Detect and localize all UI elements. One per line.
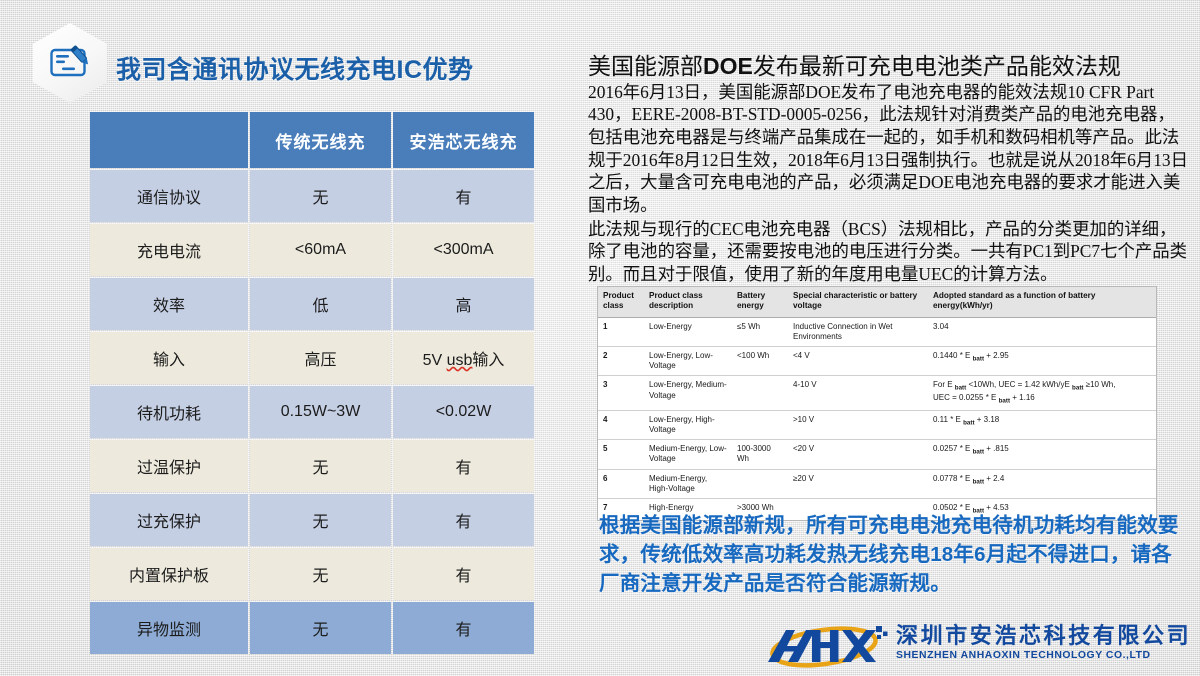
table-row: 充电电流 <60mA <300mA <box>90 224 534 276</box>
doe-cell-desc: Medium-Energy, High-Voltage <box>644 469 732 498</box>
cell-ahx: 高 <box>393 278 534 330</box>
doe-cell-energy <box>732 469 788 498</box>
doe-table-row: 1 Low-Energy ≤5 Wh Inductive Connection … <box>598 317 1156 346</box>
doe-cell-num: 5 <box>598 440 644 469</box>
cell-ahx: <0.02W <box>393 386 534 438</box>
doe-cell-standard: 0.0778 * E batt + 2.4 <box>928 469 1156 498</box>
comparison-table: 传统无线充 安浩芯无线充 通信协议 无 有 充电电流 <60mA <300mA … <box>88 110 536 656</box>
cell-feature: 通信协议 <box>90 170 248 222</box>
doe-cell-energy: <100 Wh <box>732 346 788 375</box>
document-pen-icon <box>49 44 93 82</box>
cell-ahx: 有 <box>393 494 534 546</box>
table-row: 内置保护板 无 有 <box>90 548 534 600</box>
table-row: 异物监测 无 有 <box>90 602 534 654</box>
cell-traditional: 无 <box>250 440 391 492</box>
std-l2-pre: UEC = 0.0255 * E <box>933 393 999 402</box>
cell-traditional: 0.15W~3W <box>250 386 391 438</box>
std-pre: 0.0778 * E <box>933 474 973 483</box>
doe-cell-standard: 0.11 * E batt + 3.18 <box>928 410 1156 439</box>
std-pre: 0.11 * E <box>933 415 963 424</box>
cell-ahx: 有 <box>393 602 534 654</box>
doe-col-standard: Adopted standard as a function of batter… <box>928 287 1156 317</box>
slide-canvas: 我司含通讯协议无线充电IC优势 传统无线充 安浩芯无线充 通信协议 无 有 充电… <box>0 0 1200 676</box>
doe-cell-desc: Low-Energy <box>644 317 732 346</box>
doe-cell-desc: Low-Energy, High-Voltage <box>644 410 732 439</box>
doe-cell-standard: For E batt <10Wh, UEC = 1.42 kWh/yE batt… <box>928 376 1156 410</box>
doe-cell-desc: Low-Energy, Low-Voltage <box>644 346 732 375</box>
doe-cell-special: 4-10 V <box>788 376 928 410</box>
cell-traditional: 无 <box>250 494 391 546</box>
cell-ahx: 有 <box>393 170 534 222</box>
doe-table-header-row: Product class Product class description … <box>598 287 1156 317</box>
cell-traditional: <60mA <box>250 224 391 276</box>
doe-cell-energy: 100-3000 Wh <box>732 440 788 469</box>
table-header-row: 传统无线充 安浩芯无线充 <box>90 112 534 168</box>
std-pre: 0.1440 * E <box>933 351 973 360</box>
doe-cell-standard: 0.0257 * E batt + .815 <box>928 440 1156 469</box>
slide-header: 我司含通讯协议无线充电IC优势 <box>0 14 560 100</box>
std-l1-sub1: batt <box>955 385 966 392</box>
col-header-feature <box>90 112 248 168</box>
doe-cell-desc: Medium-Energy, Low-Voltage <box>644 440 732 469</box>
doe-col-battery-energy: Battery energy <box>732 287 788 317</box>
doe-cell-energy <box>732 410 788 439</box>
table-row: 过温保护 无 有 <box>90 440 534 492</box>
std-post: + 2.4 <box>984 474 1004 483</box>
doe-col-product-class: Product class <box>598 287 644 317</box>
cell-feature: 输入 <box>90 332 248 384</box>
doe-cell-num: 4 <box>598 410 644 439</box>
ahx-input-misspelled: usb <box>447 352 473 369</box>
doe-table-row: 2 Low-Energy, Low-Voltage <100 Wh <4 V 0… <box>598 346 1156 375</box>
doe-cell-num: 3 <box>598 376 644 410</box>
company-logo: 深圳市安浩芯科技有限公司 SHENZHEN ANHAOXIN TECHNOLOG… <box>762 622 1192 672</box>
ahx-logo-mark <box>762 622 890 670</box>
cell-ahx: 5V usb输入 <box>393 332 534 384</box>
doe-heading-bold: DOE <box>703 53 753 79</box>
std-sub: batt <box>973 356 984 363</box>
std-l1-post: ≥10 Wh, <box>1083 380 1115 389</box>
doe-col-description: Product class description <box>644 287 732 317</box>
std-l1-pre: For E <box>933 380 955 389</box>
page-title: 我司含通讯协议无线充电IC优势 <box>116 50 474 86</box>
std-sub: batt <box>973 449 984 456</box>
cell-traditional: 低 <box>250 278 391 330</box>
table-row: 过充保护 无 有 <box>90 494 534 546</box>
std-pre: 0.0257 * E <box>933 444 973 453</box>
doe-cell-energy <box>732 376 788 410</box>
std-sub: batt <box>963 419 974 426</box>
doe-cell-standard: 3.04 <box>928 317 1156 346</box>
company-name-en: SHENZHEN ANHAOXIN TECHNOLOGY CO.,LTD <box>896 649 1188 663</box>
std-l2-sub: batt <box>999 398 1010 405</box>
table-row: 效率 低 高 <box>90 278 534 330</box>
table-row: 通信协议 无 有 <box>90 170 534 222</box>
cell-feature: 过充保护 <box>90 494 248 546</box>
doe-table-row: 5 Medium-Energy, Low-Voltage 100-3000 Wh… <box>598 440 1156 469</box>
std-l2-post: + 1.16 <box>1010 393 1035 402</box>
doe-heading: 美国能源部DOE发布最新可充电电池类产品能效法规 <box>588 54 1188 80</box>
title-hex-badge <box>33 23 107 103</box>
doe-cell-special: >10 V <box>788 410 928 439</box>
doe-cell-num: 2 <box>598 346 644 375</box>
doe-table-row: 6 Medium-Energy, High-Voltage ≥20 V 0.07… <box>598 469 1156 498</box>
cell-ahx: <300mA <box>393 224 534 276</box>
company-name-block: 深圳市安浩芯科技有限公司 SHENZHEN ANHAOXIN TECHNOLOG… <box>896 623 1188 662</box>
doe-paragraph-2: 此法规与现行的CEC电池充电器（BCS）法规相比，产品的分类更加的详细，除了电池… <box>588 218 1188 286</box>
doe-cell-standard: 0.1440 * E batt + 2.95 <box>928 346 1156 375</box>
cell-feature: 充电电流 <box>90 224 248 276</box>
cell-feature: 待机功耗 <box>90 386 248 438</box>
cell-feature: 内置保护板 <box>90 548 248 600</box>
doe-product-class-table: Product class Product class description … <box>597 286 1157 521</box>
cell-ahx: 有 <box>393 548 534 600</box>
doe-article: 美国能源部DOE发布最新可充电电池类产品能效法规 2016年6月13日，美国能源… <box>588 54 1188 285</box>
doe-cell-num: 6 <box>598 469 644 498</box>
doe-table-row: 4 Low-Energy, High-Voltage >10 V 0.11 * … <box>598 410 1156 439</box>
doe-cell-energy: ≤5 Wh <box>732 317 788 346</box>
doe-cell-special: <4 V <box>788 346 928 375</box>
std-post: + 3.18 <box>975 415 1000 424</box>
cell-ahx: 有 <box>393 440 534 492</box>
doe-cell-desc: Low-Energy, Medium-Voltage <box>644 376 732 410</box>
conclusion-callout: 根据美国能源部新规，所有可充电电池充电待机功耗均有能效要求，传统低效率高功耗发热… <box>599 511 1179 598</box>
cell-feature: 过温保护 <box>90 440 248 492</box>
ahx-input-pre: 5V <box>423 352 447 369</box>
std-l1-mid: <10Wh, UEC = 1.42 kWh/yE <box>966 380 1072 389</box>
doe-heading-pre: 美国能源部 <box>588 54 703 79</box>
col-header-ahx: 安浩芯无线充 <box>393 112 534 168</box>
doe-cell-special: <20 V <box>788 440 928 469</box>
cell-feature: 异物监测 <box>90 602 248 654</box>
table-row: 输入 高压 5V usb输入 <box>90 332 534 384</box>
cell-feature: 效率 <box>90 278 248 330</box>
std-post: + 2.95 <box>984 351 1009 360</box>
table-row: 待机功耗 0.15W~3W <0.02W <box>90 386 534 438</box>
cell-traditional: 高压 <box>250 332 391 384</box>
doe-col-special: Special characteristic or battery voltag… <box>788 287 928 317</box>
cell-traditional: 无 <box>250 548 391 600</box>
doe-cell-special: Inductive Connection in Wet Environments <box>788 317 928 346</box>
doe-cell-special: ≥20 V <box>788 469 928 498</box>
std-post: + .815 <box>984 444 1009 453</box>
cell-traditional: 无 <box>250 602 391 654</box>
col-header-traditional: 传统无线充 <box>250 112 391 168</box>
doe-heading-post: 发布最新可充电电池类产品能效法规 <box>753 54 1121 79</box>
doe-paragraph-1: 2016年6月13日，美国能源部DOE发布了电池充电器的能效法规10 CFR P… <box>588 81 1188 217</box>
company-name-cn: 深圳市安浩芯科技有限公司 <box>896 623 1188 649</box>
ahx-input-post: 输入 <box>472 352 504 369</box>
doe-cell-num: 1 <box>598 317 644 346</box>
cell-traditional: 无 <box>250 170 391 222</box>
doe-table-row: 3 Low-Energy, Medium-Voltage 4-10 V For … <box>598 376 1156 410</box>
std-l1-sub2: batt <box>1072 385 1083 392</box>
std-sub: batt <box>973 478 984 485</box>
